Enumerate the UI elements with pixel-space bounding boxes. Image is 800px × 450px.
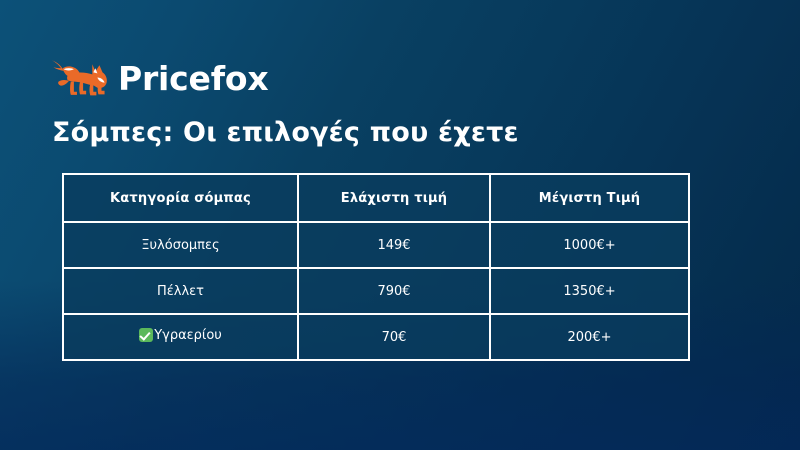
cell-max-price: 1000€+ bbox=[490, 222, 689, 268]
brand-logo[interactable]: Pricefox bbox=[48, 55, 268, 101]
column-header-min-price: Ελάχιστη τιμή bbox=[298, 174, 490, 222]
cell-min-price: 70€ bbox=[298, 314, 490, 360]
table-row: Ξυλόσομπες 149€ 1000€+ bbox=[63, 222, 689, 268]
brand-name: Pricefox bbox=[118, 62, 268, 95]
cell-category: Πέλλετ bbox=[63, 268, 298, 314]
white-check-mark-icon bbox=[139, 328, 153, 342]
table-header-row: Κατηγορία σόμπας Ελάχιστη τιμή Μέγιστη Τ… bbox=[63, 174, 689, 222]
stove-price-table: Κατηγορία σόμπας Ελάχιστη τιμή Μέγιστη Τ… bbox=[62, 173, 690, 361]
cell-min-price: 149€ bbox=[298, 222, 490, 268]
page-title: Σόμπες: Οι επιλογές που έχετε bbox=[52, 117, 519, 149]
fox-icon bbox=[48, 55, 110, 101]
cell-min-price: 790€ bbox=[298, 268, 490, 314]
table-row: Πέλλετ 790€ 1350€+ bbox=[63, 268, 689, 314]
cell-category: Ξυλόσομπες bbox=[63, 222, 298, 268]
slide-canvas: Pricefox Σόμπες: Οι επιλογές που έχετε Κ… bbox=[0, 0, 800, 450]
cell-category: Υγραερίου bbox=[63, 314, 298, 360]
cell-category-label: Υγραερίου bbox=[154, 328, 222, 343]
cell-max-price: 200€+ bbox=[490, 314, 689, 360]
column-header-category: Κατηγορία σόμπας bbox=[63, 174, 298, 222]
cell-max-price: 1350€+ bbox=[490, 268, 689, 314]
table-row: Υγραερίου 70€ 200€+ bbox=[63, 314, 689, 360]
column-header-max-price: Μέγιστη Τιμή bbox=[490, 174, 689, 222]
